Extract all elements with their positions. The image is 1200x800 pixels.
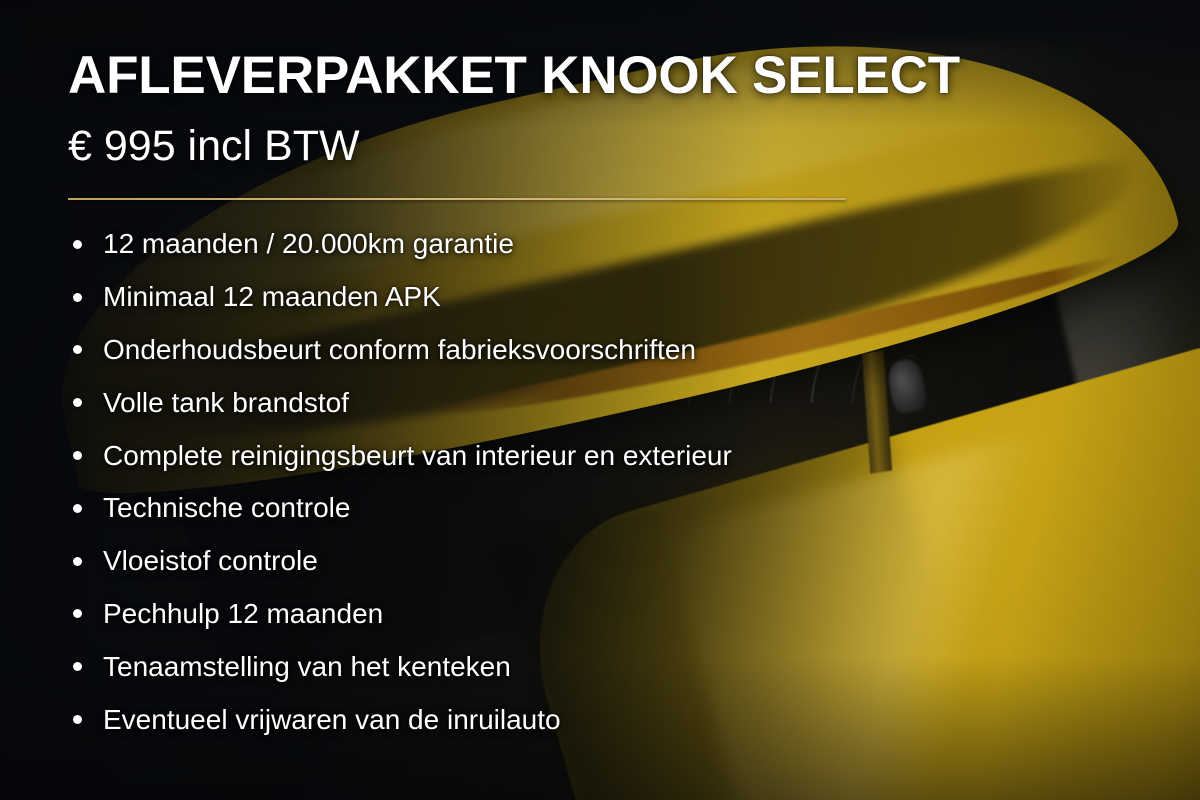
bullet-dot-icon: [73, 609, 82, 618]
page-title: AFLEVERPAKKET KNOOK SELECT: [68, 48, 960, 104]
bullet-dot-icon: [73, 557, 82, 566]
list-item: Onderhoudsbeurt conform fabrieksvoorschr…: [68, 324, 1068, 377]
feature-list: 12 maanden / 20.000km garantieMinimaal 1…: [68, 218, 1068, 746]
bullet-dot-icon: [73, 345, 82, 354]
list-item-label: Complete reinigingsbeurt van interieur e…: [103, 440, 732, 472]
list-item-label: Volle tank brandstof: [103, 387, 349, 419]
divider-rule: [68, 198, 846, 200]
list-item: Volle tank brandstof: [68, 376, 1068, 429]
list-item: 12 maanden / 20.000km garantie: [68, 218, 1068, 271]
list-item: Tenaamstelling van het kenteken: [68, 640, 1068, 693]
bullet-dot-icon: [73, 715, 82, 724]
bullet-dot-icon: [73, 398, 82, 407]
list-item-label: Eventueel vrijwaren van de inruilauto: [103, 704, 561, 736]
list-item-label: 12 maanden / 20.000km garantie: [103, 228, 514, 260]
promo-poster: AFLEVERPAKKET KNOOK SELECT € 995 incl BT…: [0, 0, 1200, 800]
bullet-dot-icon: [73, 504, 82, 513]
bullet-dot-icon: [73, 293, 82, 302]
list-item: Technische controle: [68, 482, 1068, 535]
bullet-dot-icon: [73, 451, 82, 460]
list-item: Complete reinigingsbeurt van interieur e…: [68, 429, 1068, 482]
bullet-dot-icon: [73, 662, 82, 671]
list-item-label: Vloeistof controle: [103, 545, 318, 577]
poster-content: AFLEVERPAKKET KNOOK SELECT € 995 incl BT…: [0, 0, 1200, 800]
list-item: Vloeistof controle: [68, 535, 1068, 588]
list-item-label: Onderhoudsbeurt conform fabrieksvoorschr…: [103, 334, 696, 366]
list-item-label: Pechhulp 12 maanden: [103, 598, 383, 630]
price-subtitle: € 995 incl BTW: [68, 123, 360, 170]
list-item: Minimaal 12 maanden APK: [68, 271, 1068, 324]
list-item: Pechhulp 12 maanden: [68, 588, 1068, 641]
list-item: Eventueel vrijwaren van de inruilauto: [68, 693, 1068, 746]
list-item-label: Tenaamstelling van het kenteken: [103, 651, 511, 683]
list-item-label: Minimaal 12 maanden APK: [103, 281, 441, 313]
bullet-dot-icon: [73, 240, 82, 249]
list-item-label: Technische controle: [103, 492, 350, 524]
